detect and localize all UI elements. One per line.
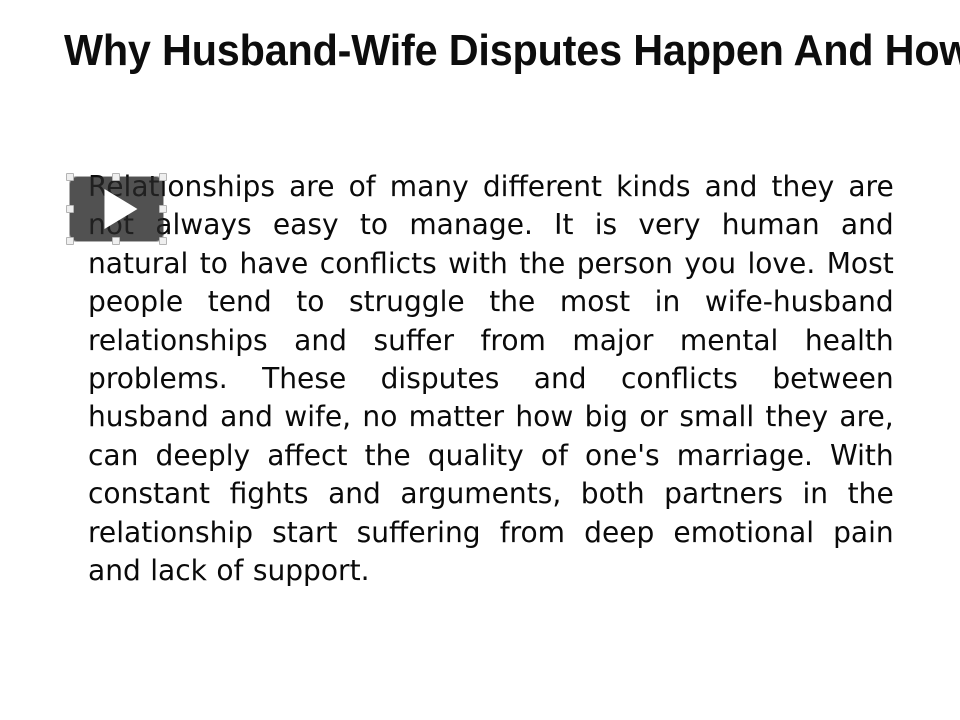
body-paragraph: Relationships are of many different kind… <box>88 168 894 590</box>
resize-handle-bottom-left[interactable] <box>66 237 74 245</box>
play-button[interactable] <box>70 177 163 241</box>
slide-body-placeholder[interactable]: Relationships are of many different kind… <box>88 168 906 590</box>
resize-handle-bottom-right[interactable] <box>159 237 167 245</box>
resize-handle-top-right[interactable] <box>159 173 167 181</box>
resize-handle-top-left[interactable] <box>66 173 74 181</box>
resize-handle-middle-left[interactable] <box>66 205 74 213</box>
slide-title-placeholder[interactable]: Why Husband-Wife Disputes Happen And How… <box>64 20 900 81</box>
play-icon <box>104 189 137 229</box>
resize-handle-bottom-center[interactable] <box>112 237 120 245</box>
presentation-slide: Why Husband-Wife Disputes Happen And How… <box>0 0 960 720</box>
resize-handle-middle-right[interactable] <box>159 205 167 213</box>
resize-handle-top-center[interactable] <box>112 173 120 181</box>
video-placeholder[interactable] <box>66 173 167 245</box>
page-title: Why Husband-Wife Disputes Happen And How… <box>64 20 850 81</box>
